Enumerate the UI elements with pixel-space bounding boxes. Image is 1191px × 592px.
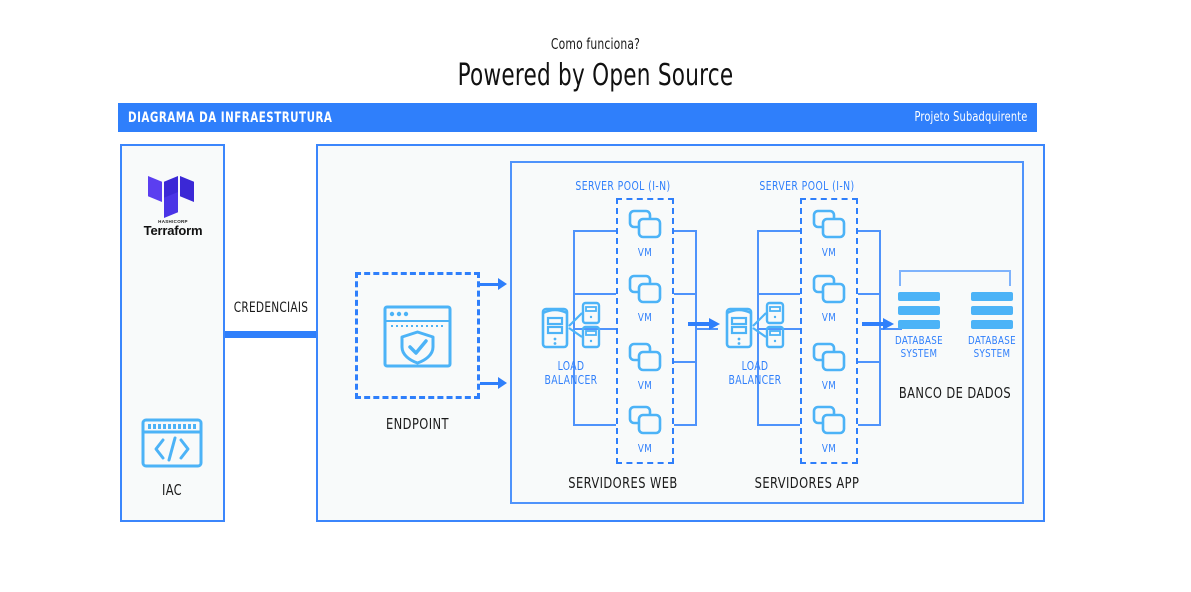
load-balancer-label-line1: LOAD [544,359,597,373]
load-balancer-icon [541,301,601,351]
load-balancer-label-line2: BALANCER [728,373,781,387]
database-label-line1: DATABASE [966,334,1019,347]
vm-label: VM [630,442,660,455]
database-stack-icon [898,292,940,330]
database-bracket [899,270,1011,286]
database-label-line2: SYSTEM [893,347,946,360]
vm-icon [628,209,662,239]
vm-label: VM [814,311,844,324]
header-bar-title: DIAGRAMA DA INFRAESTRUTURA [128,110,332,126]
vm-node: VM [812,342,846,386]
diagram-header-bar: DIAGRAMA DA INFRAESTRUTURA Projeto Subad… [118,103,1037,132]
vm-icon [812,342,846,372]
vm-label: VM [630,379,660,392]
vm-icon [812,274,846,304]
page-subtitle: Como funciona? [119,34,1072,54]
load-balancer-label-line2: BALANCER [544,373,597,387]
database-group: DATABASE SYSTEM DATABASE SYSTEM BANCO DE… [880,262,1030,407]
page-title: Powered by Open Source [119,58,1072,94]
endpoint-connector-top-arrow [498,278,507,290]
vm-node: VM [628,342,662,386]
vm-icon [628,274,662,304]
database-stack-icon [971,292,1013,330]
vm-node: VM [812,274,846,318]
code-window-icon [141,418,203,468]
load-balancer-app: LOAD BALANCER [724,301,786,387]
vm-node: VM [628,274,662,318]
terraform-name-label: Terraform [140,224,206,238]
vm-label: VM [630,311,660,324]
credentials-label: CREDENCIAIS [232,300,311,316]
browser-shield-check-icon [383,305,452,368]
database-node: DATABASE SYSTEM [962,292,1022,360]
endpoint-connector-bottom-arrow [498,377,507,389]
iac-block: IAC [131,418,213,499]
vm-node: VM [812,209,846,253]
endpoint-label: ENDPOINT [364,415,470,433]
vm-label: VM [814,442,844,455]
database-footer: BANCO DE DADOS [891,384,1019,402]
vm-icon [812,405,846,435]
database-node: DATABASE SYSTEM [889,292,949,360]
load-balancer-icon [725,301,785,351]
database-label-line1: DATABASE [893,334,946,347]
pool-title-app: SERVER POOL (I-N) [725,179,888,193]
vm-node: VM [628,405,662,449]
pool-footer-web: SERVIDORES WEB [542,474,704,492]
vm-icon [628,405,662,435]
vm-node: VM [628,209,662,253]
vm-icon [812,209,846,239]
infrastructure-diagram-canvas: Como funciona? Powered by Open Source DI… [0,0,1191,592]
server-pool-web: SERVER POOL (I-N) [528,161,718,504]
vm-label: VM [814,246,844,259]
pool-footer-app: SERVIDORES APP [726,474,888,492]
server-pool-app: SERVER POOL (I-N) [712,161,902,504]
database-label-line2: SYSTEM [966,347,1019,360]
load-balancer-web: LOAD BALANCER [540,301,602,387]
title-block: Como funciona? Powered by Open Source [0,34,1191,94]
vm-label: VM [814,379,844,392]
iac-label: IAC [137,481,207,499]
load-balancer-label-line1: LOAD [728,359,781,373]
vm-node: VM [812,405,846,449]
vm-label: VM [630,246,660,259]
vm-icon [628,342,662,372]
pool-title-web: SERVER POOL (I-N) [541,179,704,193]
terraform-logo-icon [148,172,198,218]
terraform-logo-block: HASHICORP Terraform [140,172,206,244]
header-bar-project: Projeto Subadquirente [914,110,1027,125]
